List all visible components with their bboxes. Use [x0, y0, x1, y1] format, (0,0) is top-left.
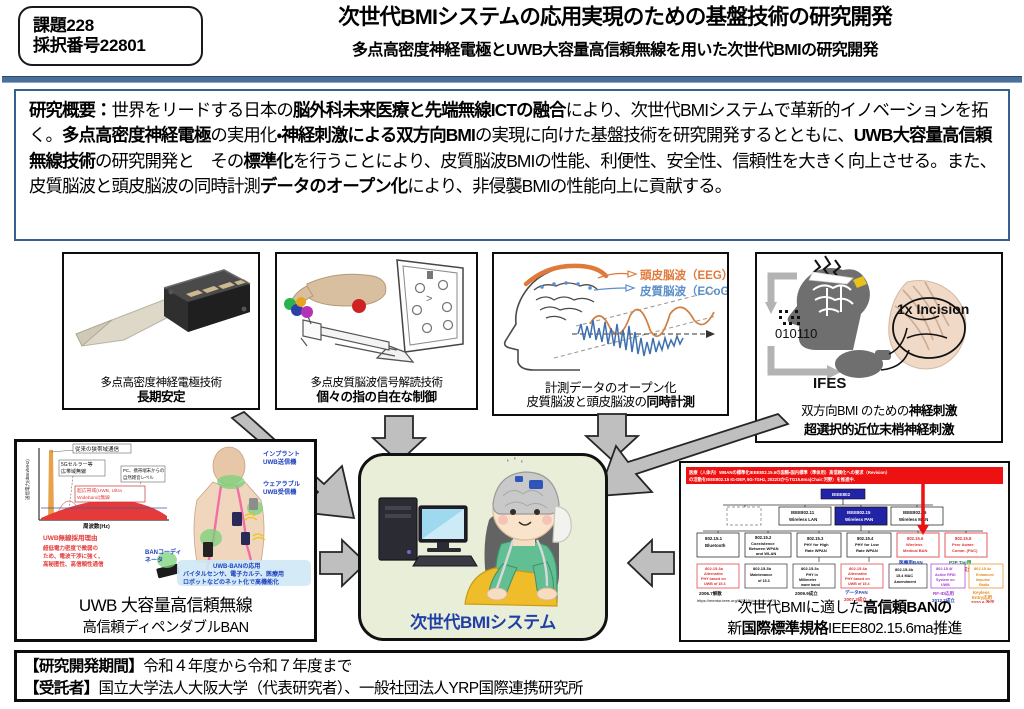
bmi-illustration: ''': [361, 456, 605, 608]
panel-bmi-system: ''' 次世代BMIシステム: [358, 453, 608, 641]
svg-text:UWB of 15.3: UWB of 15.3: [704, 582, 726, 586]
svg-text:Rate WPAN: Rate WPAN: [856, 548, 878, 553]
standards-caption-line1b: 高信頼BANの: [863, 599, 951, 616]
svg-text:自然雑音レベル: 自然雑音レベル: [123, 474, 154, 481]
standards-tree: 医療（人体内）WBANの標準化IEEE802.15.6の国際・国内標準（準体用）…: [683, 465, 1006, 603]
standards-caption-line2a: 新: [727, 620, 741, 637]
svg-text:IEEE802.15: IEEE802.15: [847, 510, 871, 515]
svg-text:Active RFID: Active RFID: [935, 573, 956, 577]
svg-text:': ': [514, 456, 516, 466]
svg-text:Wireless: Wireless: [906, 542, 923, 547]
svg-text:PC、携帯端末からの: PC、携帯端末からの: [123, 467, 164, 474]
svg-text:Wireless LAN: Wireless LAN: [789, 517, 817, 522]
svg-text:': ': [507, 458, 509, 468]
svg-text:Comm. (PAC): Comm. (PAC): [952, 548, 978, 553]
svg-text:802.15.4z: 802.15.4z: [974, 566, 991, 571]
panel-standards: 医療（人体内）WBANの標準化IEEE802.15.6の国際・国内標準（準体用）…: [679, 461, 1010, 642]
uwb-caption-line1: UWB 大容量高信頼無線: [79, 596, 252, 615]
standards-caption-line2c: IEEE802.15.6ma推進: [828, 620, 962, 637]
svg-text:802.15.4: 802.15.4: [857, 536, 874, 541]
uwb-illustration: 送信電力(dBm/MHz) 周波数(Hz) 従来の狭帯域通信 5Gセルラー等 広…: [17, 442, 316, 590]
standards-caption: 次世代BMIに適した高信頼BANの 新国際標準規格IEEE802.15.6ma推…: [681, 596, 1008, 638]
svg-text:802.15.4b: 802.15.4b: [895, 567, 914, 572]
svg-text:PHY for Low: PHY for Low: [855, 542, 880, 547]
svg-text:802.15.2: 802.15.2: [755, 535, 772, 540]
svg-text:Maintenance: Maintenance: [750, 573, 772, 577]
contractor-value: 国立大学法人大阪大学（代表研究者）、一般社団法人YRP国際連携研究所: [99, 680, 583, 697]
bmi-caption: 次世代BMIシステム: [361, 608, 605, 633]
svg-text:Peer Aware: Peer Aware: [952, 542, 974, 547]
contractor-row: 【受託者】国立大学法人大阪大学（代表研究者）、一般社団法人YRP国際連携研究所: [24, 678, 1007, 700]
svg-text:広帯域無線: 広帯域無線: [61, 468, 86, 475]
svg-text:Amendment: Amendment: [894, 580, 917, 584]
bmi-caption-text: 次世代BMIシステム: [410, 613, 556, 632]
svg-text:PHY based on: PHY based on: [845, 577, 870, 581]
arrow-standards-to-bmi: [628, 540, 674, 586]
research-period-value: 令和４年度から令和７年度まで: [143, 658, 352, 675]
svg-text:Wideband)無線: Wideband)無線: [77, 494, 110, 501]
svg-text:ロボットなどのネット化で高機能化: ロボットなどのネット化で高機能化: [183, 578, 279, 586]
svg-text:UWB無線採用理由: UWB無線採用理由: [43, 533, 98, 542]
panel-uwb: 送信電力(dBm/MHz) 周波数(Hz) 従来の狭帯域通信 5Gセルラー等 広…: [14, 439, 317, 642]
research-period-label: 【研究開発期間】: [24, 658, 143, 675]
footer-info-box: 【研究開発期間】令和４年度から令和７年度まで 【受託者】国立大学法人大阪大学（代…: [14, 650, 1010, 702]
svg-text:802.15.4f: 802.15.4f: [936, 566, 953, 571]
svg-text:802.15.4a: 802.15.4a: [849, 566, 868, 571]
svg-text:Rate WPAN: Rate WPAN: [805, 548, 827, 553]
svg-text:Alternative: Alternative: [704, 572, 723, 576]
svg-text:UWB送信機: UWB送信機: [263, 458, 297, 466]
svg-text:802.15.1: 802.15.1: [705, 536, 723, 541]
svg-text:and WLAN: and WLAN: [756, 551, 776, 556]
uwb-caption: UWB 大容量高信頼無線 高信頼ディペンダブルBAN: [17, 591, 314, 637]
svg-text:従来の狭帯域通信: 従来の狭帯域通信: [75, 445, 120, 453]
svg-text:Radio: Radio: [979, 583, 990, 587]
svg-text:超広帯域(UWB, Ultra: 超広帯域(UWB, Ultra: [77, 487, 122, 494]
svg-text:Alternative: Alternative: [848, 572, 867, 576]
svg-text:送信電力(dBm/MHz): 送信電力(dBm/MHz): [24, 459, 31, 500]
svg-text:データPAN: データPAN: [845, 589, 868, 596]
svg-text:802.15.8: 802.15.8: [955, 536, 972, 541]
svg-text:IEEE802.11: IEEE802.11: [791, 510, 815, 515]
svg-text:バイタルセンサ、電子カルテ、医療用: バイタルセンサ、電子カルテ、医療用: [183, 570, 284, 578]
svg-text:UWB受信機: UWB受信機: [263, 488, 297, 496]
svg-text:wave band: wave band: [800, 583, 821, 587]
contractor-label: 【受託者】: [24, 680, 99, 697]
svg-text:ネータ: ネータ: [145, 556, 163, 564]
svg-text:5Gセルラー等: 5Gセルラー等: [61, 461, 93, 468]
svg-text:UWB-BANの応用: UWB-BANの応用: [213, 562, 260, 570]
research-period-row: 【研究開発期間】令和４年度から令和７年度まで: [24, 656, 1007, 678]
svg-text:802.15.6: 802.15.6: [907, 536, 924, 541]
svg-text:周波数(Hz): 周波数(Hz): [83, 522, 110, 530]
svg-text:Bluetooth: Bluetooth: [705, 543, 726, 548]
svg-text:ため、電波干渉に強く、: ため、電波干渉に強く、: [43, 552, 104, 560]
svg-text:ウェアラブル: ウェアラブル: [263, 480, 301, 488]
svg-text:Medical BAN: Medical BAN: [903, 548, 928, 553]
standards-caption-line1a: 次世代BMIに適した: [738, 599, 864, 616]
svg-text:UWB of 15.4: UWB of 15.4: [848, 582, 870, 586]
svg-text:802.15.3a: 802.15.3a: [705, 566, 724, 571]
svg-text:': ': [521, 459, 523, 469]
svg-text:of 15.3: of 15.3: [758, 579, 770, 583]
svg-text:Enhanced: Enhanced: [976, 573, 994, 577]
svg-text:System on: System on: [936, 578, 955, 582]
svg-text:802.15.3c: 802.15.3c: [801, 566, 820, 571]
svg-text:Millimeter: Millimeter: [799, 578, 817, 582]
svg-text:Impulse: Impulse: [976, 578, 990, 582]
svg-text:PHY for High: PHY for High: [804, 542, 829, 547]
svg-text:インプラント: インプラント: [263, 450, 300, 458]
svg-text:PHY in: PHY in: [806, 573, 819, 577]
standards-caption-line2b: 国際標準規格: [742, 620, 828, 637]
svg-text:医療（人体内）WBANの標準化IEEE802.15.6の国際: 医療（人体内）WBANの標準化IEEE802.15.6の国際・国内標準（準体用）…: [689, 469, 890, 476]
svg-text:802.15.3b: 802.15.3b: [753, 566, 772, 571]
svg-text:超低電力密度で微弱の: 超低電力密度で微弱の: [42, 544, 99, 552]
svg-text:802.15.3: 802.15.3: [807, 536, 824, 541]
svg-text:高秘匿性、高信頼性通信: 高秘匿性、高信頼性通信: [43, 560, 104, 568]
uwb-caption-line2: 高信頼ディペンダブルBAN: [83, 620, 249, 636]
svg-text:の活動をIEEE802.15 IG-DEP, 5G-7GHz: の活動をIEEE802.15 IG-DEP, 5G-7GHz, 2022/3から…: [689, 476, 855, 483]
svg-text:BANコーディ: BANコーディ: [145, 548, 182, 556]
svg-text:Wireless PAN: Wireless PAN: [845, 517, 873, 522]
svg-text:15.4 MAC: 15.4 MAC: [896, 574, 913, 578]
svg-text:PHY based on: PHY based on: [701, 577, 726, 581]
svg-text:UWB: UWB: [941, 583, 950, 587]
uwb-spectrum-chart: 送信電力(dBm/MHz) 周波数(Hz) 従来の狭帯域通信 5Gセルラー等 広…: [24, 444, 169, 530]
arrow-opendata-to-bmi: [586, 414, 638, 460]
svg-text:IEEE802: IEEE802: [832, 492, 851, 497]
